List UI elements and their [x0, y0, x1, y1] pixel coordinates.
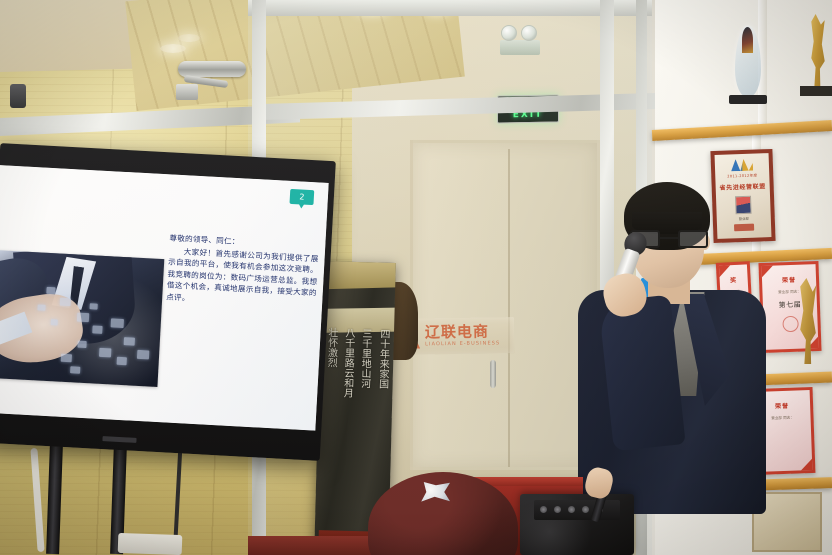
amplifier-knob[interactable]: [582, 506, 589, 513]
photo-ui-tile: [70, 366, 80, 374]
ceiling-light: [160, 44, 186, 53]
glasses-lens: [678, 230, 708, 248]
photo-scene: 安全出口 EXIT 辽联电商 LIAOLIAN E-BUSINESS 功 四十年…: [0, 0, 832, 555]
photo-ui-tile: [37, 304, 45, 310]
presentation-slide: 2: [0, 165, 329, 431]
photo-ui-tile: [46, 287, 55, 294]
photo-ui-tile: [77, 313, 89, 323]
certificate-subtext: 营业部 同志：: [771, 416, 794, 422]
door-seam: [508, 149, 510, 467]
certificate-subtext: 营业部 同志：: [778, 290, 801, 296]
certificate-title: 第七届: [779, 300, 802, 311]
photo-ui-tile: [77, 341, 86, 348]
photo-ui-tile: [137, 350, 149, 360]
amplifier-knob[interactable]: [540, 506, 547, 513]
photo-ui-tile: [51, 319, 58, 325]
brand-name-chinese: 辽联电商: [425, 324, 500, 340]
certificate-heading: 荣誉: [782, 275, 796, 284]
photo-ui-tile: [99, 348, 111, 358]
photo-ui-tile: [117, 357, 127, 366]
amplifier-knob[interactable]: [554, 506, 561, 513]
calligraphy-column: 四十年来家国: [373, 328, 391, 388]
slide-number-badge: 2: [289, 189, 314, 205]
presenter: [560, 182, 770, 512]
emergency-light-base: [500, 40, 540, 55]
photo-ui-tile: [60, 298, 71, 307]
door-closer-bracket: [176, 84, 198, 100]
photo-ui-tile: [124, 337, 135, 346]
trophy-base: [729, 95, 767, 104]
brand-name-english: LIAOLIAN E-BUSINESS: [425, 341, 500, 347]
slide-body-text: 尊敬的领导、同仁： 大家好！首先感谢公司为我们提供了展示自我的平台，使我有机会参…: [166, 232, 320, 312]
photo-ui-tile: [111, 318, 124, 328]
photo-ui-tile: [61, 354, 72, 363]
slide-photo: [0, 250, 164, 387]
emergency-lamp-icon: [501, 25, 517, 41]
plaque-year: 2011-2012年度: [727, 173, 757, 179]
tv-screen: 2: [0, 165, 329, 431]
power-strip[interactable]: [118, 533, 183, 555]
frame-header: [248, 0, 652, 16]
door-lock-icon[interactable]: [10, 84, 26, 108]
amplifier-knob[interactable]: [568, 506, 575, 513]
photo-ui-tile: [90, 303, 98, 309]
slide-line-2: 大家好！首先感谢公司为我们提供了展示自我的平台，使我有机会参加这次竞聘。我竞聘的…: [166, 245, 319, 311]
certificate-seal-icon: [782, 316, 799, 333]
trophy-base: [800, 86, 832, 96]
tv-brand-logo: [102, 436, 136, 443]
ceiling-light: [178, 34, 200, 42]
door-handle[interactable]: [490, 360, 496, 388]
pa-amplifier[interactable]: [520, 494, 634, 555]
calligraphy-column: 八千里路云和月: [337, 328, 355, 398]
certificate-heading: 荣誉: [775, 401, 789, 410]
photo-ui-tile: [92, 325, 102, 334]
glasses-bridge: [660, 237, 678, 239]
presentation-tv: 2: [0, 143, 336, 461]
calligraphy-column: 三千里地山河: [355, 328, 373, 388]
emergency-lamp-icon: [521, 25, 537, 41]
plaque-logo-icon: [731, 159, 753, 172]
